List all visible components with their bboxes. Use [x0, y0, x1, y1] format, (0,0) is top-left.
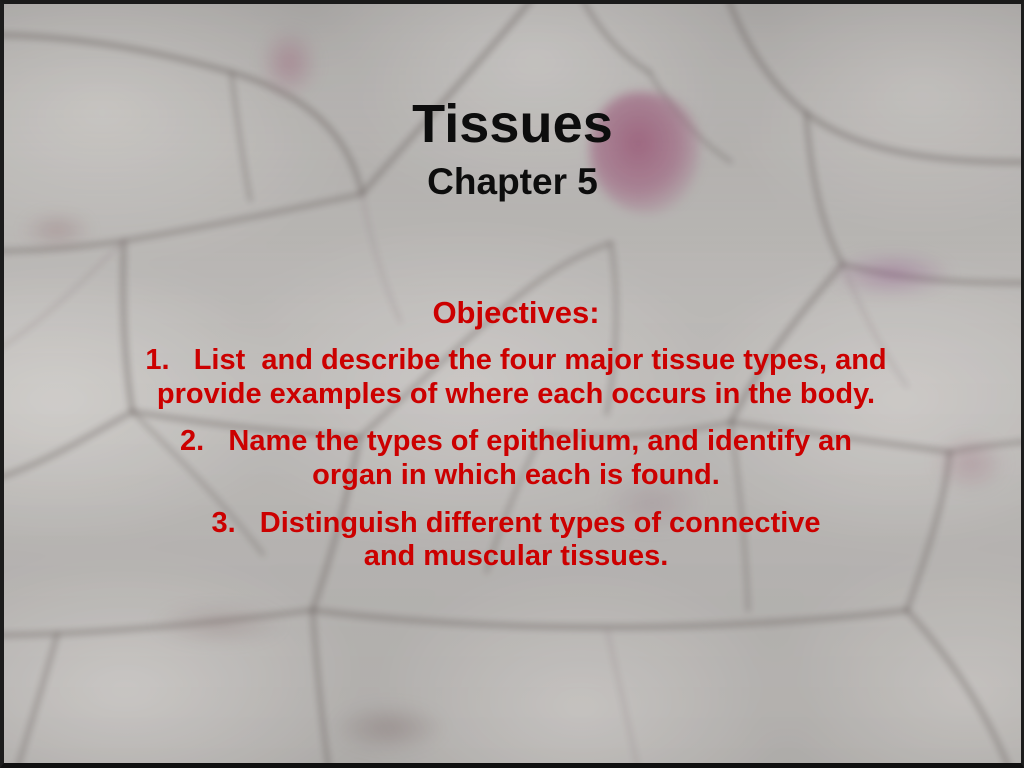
objective-item: 1. List and describe the four major tiss…: [132, 344, 900, 411]
title-block: Tissues Chapter 5: [4, 96, 1021, 202]
objectives-heading: Objectives:: [132, 296, 900, 330]
slide-subtitle: Chapter 5: [4, 163, 1021, 202]
objectives-section: Objectives: 1. List and describe the fou…: [132, 296, 900, 574]
objectives-list: 1. List and describe the four major tiss…: [132, 344, 900, 574]
objective-item: 2. Name the types of epithelium, and ide…: [132, 425, 900, 492]
objective-item: 3. Distinguish different types of connec…: [132, 507, 900, 574]
presentation-slide: Tissues Chapter 5 Objectives: 1. List an…: [0, 0, 1024, 768]
slide-content: Tissues Chapter 5 Objectives: 1. List an…: [4, 4, 1021, 763]
slide-title: Tissues: [4, 96, 1021, 153]
